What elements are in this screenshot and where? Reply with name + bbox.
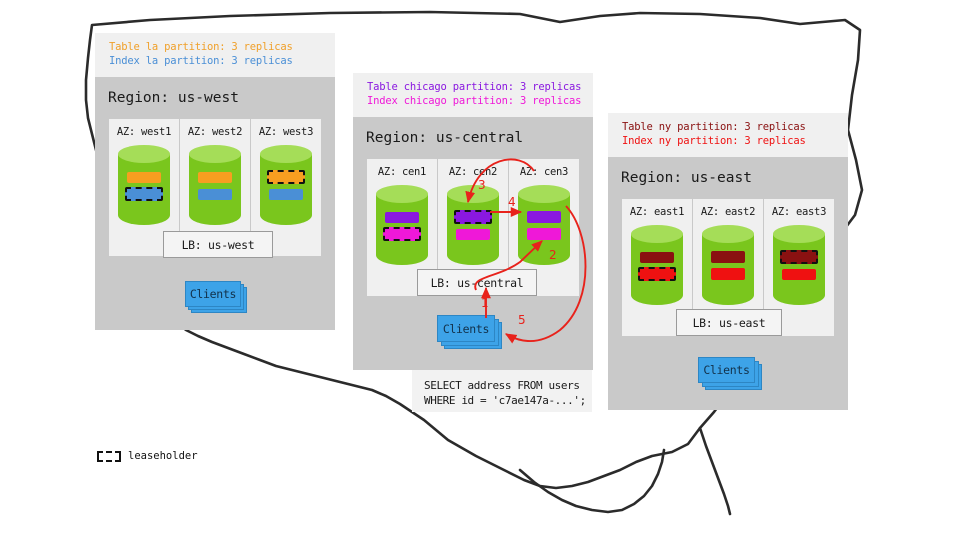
load-balancer-us-east[interactable]: LB: us-east [676, 309, 782, 336]
clients-label-us-west[interactable]: Clients [185, 281, 241, 307]
legend-leaseholder: leaseholder [97, 450, 198, 462]
sql-query-box: SELECT address FROM users WHERE id = 'c7… [412, 370, 592, 412]
table-replica-east1 [640, 252, 674, 263]
table-partition-line-la: Table la partition: 3 replicas [109, 40, 325, 54]
cylinder-top [376, 185, 428, 203]
clients-us-central[interactable]: Clients [437, 315, 505, 349]
az-label-cen1: AZ: cen1 [367, 166, 437, 178]
table-replica-west3-leaseholder [267, 170, 305, 184]
index-replica-east3 [782, 269, 816, 280]
table-replica-east3-leaseholder [780, 250, 818, 264]
cylinder-top [447, 185, 499, 203]
legend-label: leaseholder [128, 450, 198, 462]
table-partition-line-chicago: Table chicago partition: 3 replicas [367, 80, 583, 94]
region-title-us-east: Region: us-east [621, 170, 752, 186]
clients-us-west[interactable]: Clients [185, 281, 247, 313]
index-partition-line-la: Index la partition: 3 replicas [109, 54, 325, 68]
load-balancer-us-central[interactable]: LB: us-central [417, 269, 537, 296]
az-label-west2: AZ: west2 [180, 126, 250, 138]
info-box-us-east: Table ny partition: 3 replicas Index ny … [608, 113, 848, 157]
database-cylinder-cen3 [518, 185, 570, 265]
clients-us-east[interactable]: Clients [698, 357, 764, 390]
index-replica-cen1-leaseholder [383, 227, 421, 241]
az-label-cen3: AZ: cen3 [509, 166, 579, 178]
index-partition-line-chicago: Index chicago partition: 3 replicas [367, 94, 583, 108]
cylinder-top [702, 225, 754, 243]
info-box-us-central: Table chicago partition: 3 replicas Inde… [353, 73, 593, 117]
database-cylinder-west3 [260, 145, 312, 225]
az-label-west1: AZ: west1 [109, 126, 179, 138]
table-partition-line-ny: Table ny partition: 3 replicas [622, 120, 838, 134]
table-replica-cen2-leaseholder [454, 210, 492, 224]
region-panel-us-west: Region: us-west AZ: west1 AZ: west2 [95, 77, 335, 330]
step-number-4: 4 [508, 195, 516, 209]
clients-label-us-central[interactable]: Clients [437, 315, 495, 342]
database-cylinder-east1 [631, 225, 683, 305]
region-title-us-central: Region: us-central [366, 130, 523, 146]
cylinder-top [518, 185, 570, 203]
az-label-cen2: AZ: cen2 [438, 166, 508, 178]
cylinder-top [631, 225, 683, 243]
region-title-us-west: Region: us-west [108, 90, 239, 106]
dashed-rectangle-icon [97, 451, 121, 462]
index-replica-west3 [269, 189, 303, 200]
database-cylinder-west2 [189, 145, 241, 225]
index-replica-cen2 [456, 229, 490, 240]
index-replica-west2 [198, 189, 232, 200]
load-balancer-us-west[interactable]: LB: us-west [163, 231, 273, 258]
az-label-east3: AZ: east3 [764, 206, 834, 218]
index-replica-cen3 [527, 228, 561, 240]
diagram-canvas: Table la partition: 3 replicas Index la … [0, 0, 960, 540]
database-cylinder-east2 [702, 225, 754, 305]
cylinder-top [260, 145, 312, 163]
az-label-east2: AZ: east2 [693, 206, 763, 218]
cylinder-top [118, 145, 170, 163]
index-replica-east2 [711, 268, 745, 280]
az-label-east1: AZ: east1 [622, 206, 692, 218]
table-replica-cen3 [527, 211, 561, 223]
step-number-3: 3 [478, 178, 486, 192]
az-label-west3: AZ: west3 [251, 126, 321, 138]
index-partition-line-ny: Index ny partition: 3 replicas [622, 134, 838, 148]
region-panel-us-central: Region: us-central AZ: cen1 AZ: cen2 [353, 117, 593, 370]
database-cylinder-west1 [118, 145, 170, 225]
region-panel-us-east: Region: us-east AZ: east1 AZ: east2 [608, 157, 848, 410]
sql-line-2: WHERE id = 'c7ae147a-...'; [424, 393, 580, 408]
table-replica-east2 [711, 251, 745, 263]
index-replica-west1-leaseholder [125, 187, 163, 201]
step-number-1: 1 [481, 296, 489, 310]
table-replica-west2 [198, 172, 232, 183]
cylinder-top [189, 145, 241, 163]
step-number-5: 5 [518, 313, 526, 327]
database-cylinder-cen1 [376, 185, 428, 265]
table-replica-cen1 [385, 212, 419, 223]
database-cylinder-east3 [773, 225, 825, 305]
database-cylinder-cen2 [447, 185, 499, 265]
step-number-2: 2 [549, 248, 557, 262]
sql-line-1: SELECT address FROM users [424, 378, 580, 393]
table-replica-west1 [127, 172, 161, 183]
index-replica-east1-leaseholder [638, 267, 676, 281]
cylinder-top [773, 225, 825, 243]
info-box-us-west: Table la partition: 3 replicas Index la … [95, 33, 335, 77]
clients-label-us-east[interactable]: Clients [698, 357, 755, 383]
